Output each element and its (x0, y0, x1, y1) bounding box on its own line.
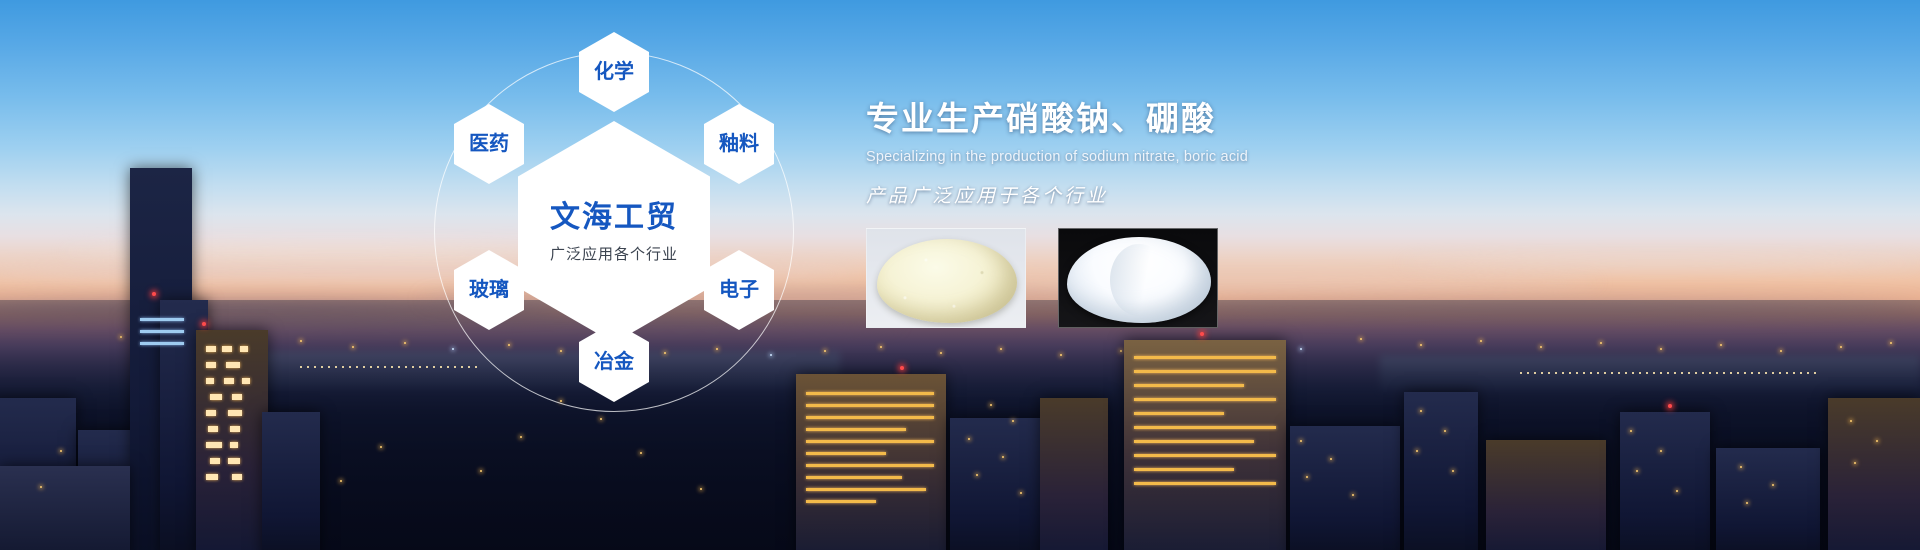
product-photo-row (866, 228, 1218, 328)
product-photo-sodium-nitrate (866, 228, 1026, 328)
headline: 专业生产硝酸钠、硼酸 (866, 100, 1566, 138)
powder-crease-highlight (1110, 244, 1168, 316)
subheadline-chinese: 产品广泛应用于各个行业 (866, 181, 1566, 208)
hex-node-label: 化学 (594, 62, 634, 82)
promotional-banner: 化学 医药 釉料 玻璃 电子 冶金 文海工贸 广泛应用各个行业 专业生产硝酸钠、… (0, 0, 1920, 550)
product-photo-boric-acid (1058, 228, 1218, 328)
industry-hex-diagram: 化学 医药 釉料 玻璃 电子 冶金 文海工贸 广泛应用各个行业 (404, 22, 824, 442)
powder-pile (877, 239, 1017, 323)
powder-grain-texture (877, 239, 1017, 323)
marketing-copy-block: 专业生产硝酸钠、硼酸 Specializing in the productio… (866, 100, 1566, 208)
hex-node-label: 电子 (719, 280, 759, 300)
company-tagline: 广泛应用各个行业 (550, 243, 678, 264)
hex-node-label: 釉料 (719, 134, 759, 154)
company-name: 文海工贸 (550, 201, 678, 234)
hex-node-label: 玻璃 (469, 280, 509, 300)
subheadline-english: Specializing in the production of sodium… (866, 149, 1566, 165)
hex-node-label: 冶金 (594, 352, 634, 372)
hex-node-label: 医药 (469, 134, 509, 154)
powder-pile (1067, 237, 1211, 323)
